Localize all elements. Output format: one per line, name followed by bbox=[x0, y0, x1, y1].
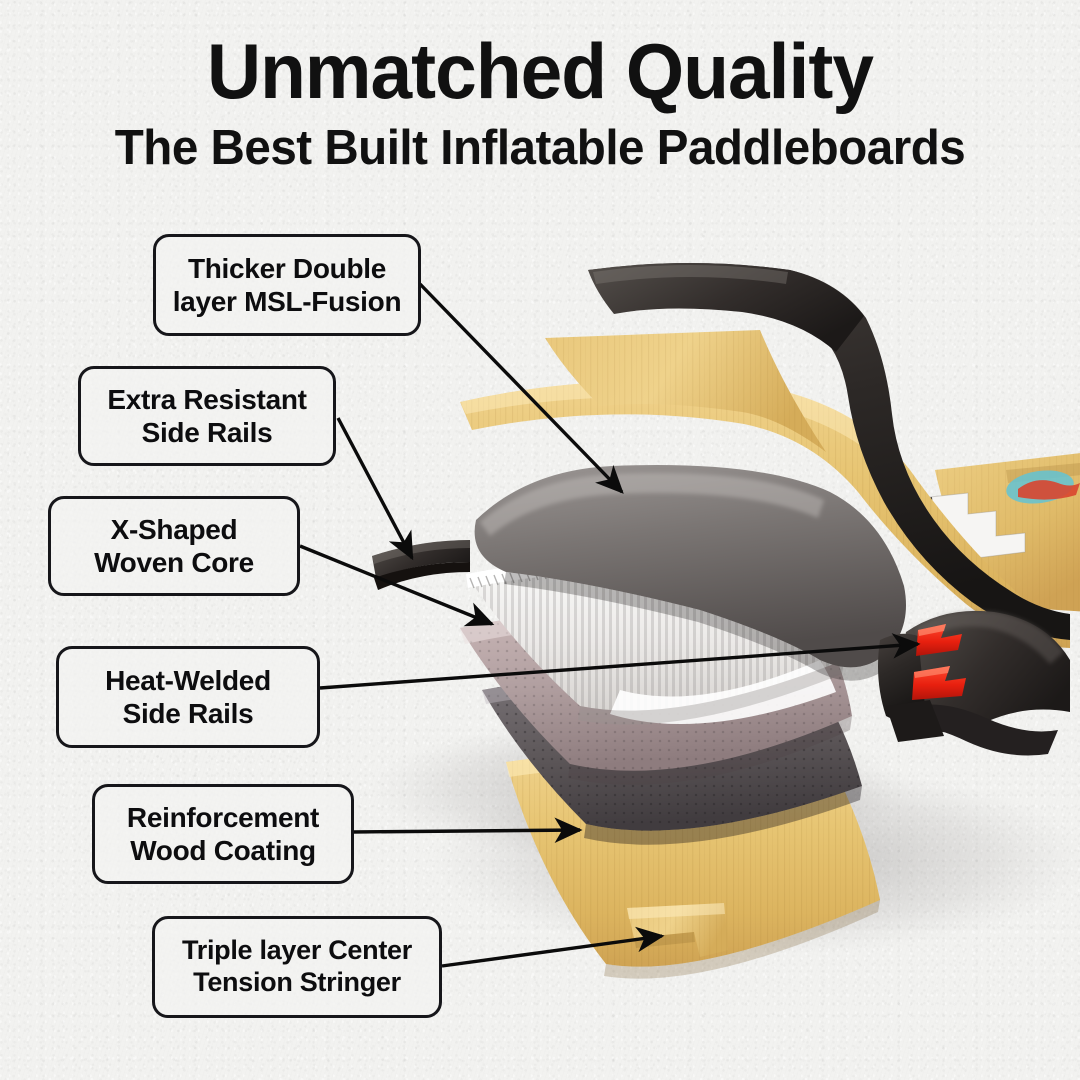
callout-line-1: Thicker Double bbox=[173, 252, 402, 285]
callout-line-2: Wood Coating bbox=[127, 834, 319, 867]
callout-heat-welded-rails[interactable]: Heat-Welded Side Rails bbox=[56, 646, 320, 748]
callout-line-2: Tension Stringer bbox=[182, 967, 412, 999]
callout-line-1: Heat-Welded bbox=[105, 664, 271, 697]
callout-thicker-double-layer[interactable]: Thicker Double layer MSL-Fusion bbox=[153, 234, 421, 336]
callout-line-1: Triple layer Center bbox=[182, 935, 412, 967]
callout-line-2: Side Rails bbox=[105, 697, 271, 730]
callout-extra-resistant-rails[interactable]: Extra Resistant Side Rails bbox=[78, 366, 336, 466]
leader-x-shaped-woven-core bbox=[300, 546, 492, 624]
leader-extra-resistant-rails bbox=[338, 418, 412, 558]
callout-line-1: Extra Resistant bbox=[107, 383, 306, 416]
callout-line-2: Woven Core bbox=[94, 546, 254, 579]
callout-line-1: X-Shaped bbox=[94, 513, 254, 546]
callout-line-1: Reinforcement bbox=[127, 801, 319, 834]
callout-tension-stringer[interactable]: Triple layer Center Tension Stringer bbox=[152, 916, 442, 1018]
leader-reinforcement-wood bbox=[352, 830, 580, 832]
callout-x-shaped-woven-core[interactable]: X-Shaped Woven Core bbox=[48, 496, 300, 596]
callout-line-2: layer MSL-Fusion bbox=[173, 285, 402, 318]
leader-heat-welded-rails bbox=[320, 644, 918, 688]
infographic-canvas: Unmatched Quality The Best Built Inflata… bbox=[0, 0, 1080, 1080]
callout-line-2: Side Rails bbox=[107, 416, 306, 449]
leader-tension-stringer bbox=[442, 936, 662, 966]
leader-thicker-double-layer bbox=[420, 284, 622, 492]
callout-reinforcement-wood[interactable]: Reinforcement Wood Coating bbox=[92, 784, 354, 884]
